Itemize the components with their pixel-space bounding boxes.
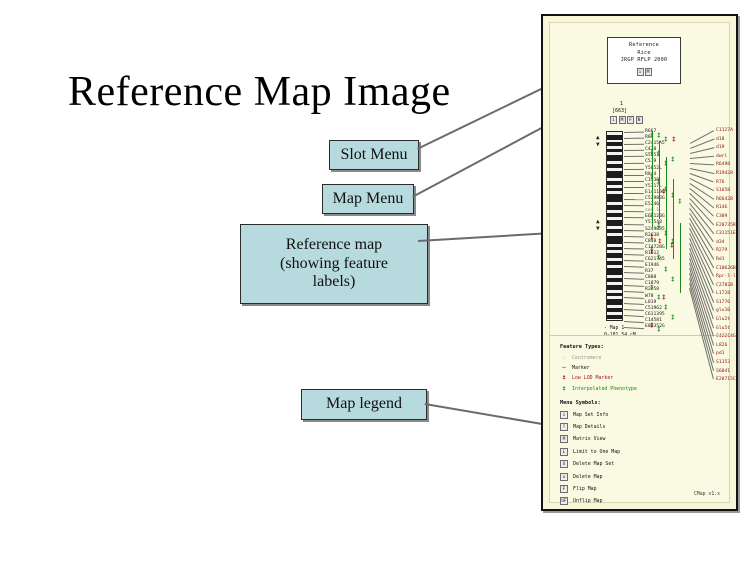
ideogram-band — [607, 149, 622, 152]
corresponding-feature-label[interactable]: glu10 — [716, 307, 738, 316]
corresponding-feature-label[interactable]: dwrl — [716, 153, 738, 162]
corresponding-feature-label[interactable]: Rd1 — [716, 256, 738, 265]
interpolated-phenotype-glyph[interactable]: ‡ — [664, 231, 668, 237]
slot-menu-matrix-icon[interactable]: M — [619, 116, 626, 124]
menu-symbol-row: ?Map Details — [560, 423, 729, 431]
ideogram-band — [607, 171, 622, 178]
interpolated-phenotype-glyph[interactable]: ‡ — [650, 213, 654, 219]
feature-leader-line — [624, 272, 644, 273]
interpolated-phenotype-glyph[interactable]: ‡ — [657, 295, 661, 301]
corresponding-feature-label[interactable]: C1127A — [716, 127, 738, 136]
interpolated-phenotype-glyph[interactable]: ‡ — [671, 315, 675, 321]
callout-reference-map-line3: labels) — [280, 273, 388, 291]
feature-leader-line — [624, 156, 644, 157]
interpolated-phenotype-glyph[interactable]: ‡ — [671, 157, 675, 163]
menu-symbol-icon[interactable]: X — [560, 460, 568, 468]
centromere-icon: ☐ — [560, 355, 568, 361]
feature-leader-line — [624, 217, 644, 218]
map-set-info-icon[interactable]: i — [637, 68, 644, 76]
feature-leader-line — [624, 132, 644, 133]
callout-map-legend-label: Map legend — [326, 395, 402, 413]
menu-symbol-icon[interactable]: x — [560, 473, 568, 481]
feature-leader-line — [624, 193, 644, 194]
cmap-version-label: CMap v1.x — [694, 492, 720, 497]
ideogram-band — [607, 261, 622, 265]
feature-leader-line — [624, 297, 644, 299]
legend-label-interpolated-phenotype: Interpolated Phenotype — [572, 386, 637, 392]
correspondence-glyph-column: ‡‡‡‡‡‡‡‡‡‡‡‡‡‡‡‡‡‡‡‡‡‡‡‡‡‡‡‡‡‡‡‡‡‡ — [650, 127, 692, 332]
corresponding-feature-label[interactable]: d19 — [716, 144, 738, 153]
feature-leader-line — [624, 309, 644, 311]
menu-symbol-label: Limit to One Map — [573, 449, 620, 455]
menu-symbol-label: Flip Map — [573, 486, 597, 492]
interpolated-phenotype-glyph[interactable]: ‡ — [657, 151, 661, 157]
map-set-menu[interactable]: i M — [608, 68, 680, 76]
map-menu-down-arrow-icon-2[interactable]: ▼ — [596, 226, 600, 232]
legend-item-centromere: ☐ Centromere — [560, 355, 729, 361]
menu-symbol-icon[interactable]: N — [560, 510, 568, 511]
reference-map-ideogram[interactable] — [606, 131, 623, 321]
corresponding-feature-label[interactable]: R76 — [716, 179, 738, 188]
low-lod-marker-glyph[interactable]: ‡ — [672, 137, 676, 143]
ideogram-band — [607, 236, 622, 244]
matrix-view-icon[interactable]: M — [645, 68, 652, 76]
feature-leader-line — [624, 236, 644, 237]
menu-symbol-label: Unflip Map — [573, 498, 602, 504]
callout-leader-line — [425, 403, 548, 426]
interpolated-phenotype-glyph[interactable]: ‡ — [657, 255, 661, 261]
legend-item-low-lod-marker: ‡ Low LOD Marker — [560, 375, 729, 381]
feature-leader-line — [624, 266, 644, 267]
callout-map-menu: Map Menu — [322, 184, 414, 214]
low-lod-marker-glyph[interactable]: ‡ — [662, 189, 666, 195]
legend-label-low-lod-marker: Low LOD Marker — [572, 375, 613, 381]
ideogram-band — [607, 315, 622, 319]
map-menu[interactable]: ▲ ▼ — [596, 135, 600, 148]
menu-symbols-heading: Menu Symbols: — [560, 400, 729, 406]
feature-leader-line — [624, 181, 644, 182]
menu-symbol-icon[interactable]: M — [560, 435, 568, 443]
interpolated-phenotype-glyph[interactable]: ‡ — [650, 133, 654, 139]
low-lod-marker-glyph[interactable]: ‡ — [670, 243, 674, 249]
ideogram-band — [607, 194, 622, 202]
interpolated-phenotype-glyph[interactable]: ‡ — [657, 327, 661, 333]
map-set-header-box[interactable]: Reference Rice JRGP RFLP 2000 i M — [607, 37, 681, 84]
interpolated-phenotype-glyph[interactable]: ‡ — [664, 161, 668, 167]
ideogram-band — [607, 164, 622, 168]
menu-symbol-row: LLimit to One Map — [560, 448, 729, 456]
ideogram-band — [607, 181, 622, 185]
menu-symbol-icon[interactable]: L — [560, 448, 568, 456]
ideogram-band — [607, 155, 622, 161]
feature-leader-line — [624, 285, 644, 287]
map-menu-down-arrow-icon[interactable]: ▼ — [596, 142, 600, 148]
ideogram-band — [607, 135, 622, 140]
callout-reference-map-line2: (showing feature — [280, 255, 388, 273]
menu-symbol-label: Map Set Info — [573, 412, 608, 418]
feature-leader-line — [624, 242, 644, 243]
slot-menu[interactable]: i M F N — [610, 116, 643, 124]
interpolated-phenotype-glyph[interactable]: ‡ — [664, 305, 668, 311]
corresponding-feature-label[interactable]: S1776 — [716, 299, 738, 308]
feature-leader-line — [624, 162, 644, 163]
feature-leader-line — [624, 315, 644, 317]
corresponding-feature-label[interactable]: C31151EB — [716, 230, 738, 239]
feature-leader-line — [624, 254, 644, 255]
ideogram-band — [607, 229, 622, 233]
ideogram-band — [607, 205, 622, 210]
feature-leader-line — [624, 248, 644, 249]
menu-symbol-row: UFUnflip Map — [560, 497, 729, 505]
menu-symbol-icon[interactable]: F — [560, 485, 568, 493]
low-lod-marker-glyph[interactable]: ‡ — [658, 239, 662, 245]
corresponding-feature-label[interactable]: R19428 — [716, 170, 738, 179]
slot-menu-flip-icon[interactable]: F — [627, 116, 634, 124]
marker-icon: ─ — [560, 365, 568, 371]
interpolated-phenotype-icon: ‡ — [560, 386, 568, 392]
corresponding-feature-label[interactable]: C10626B — [716, 265, 738, 274]
interpolated-phenotype-glyph[interactable]: ‡ — [657, 179, 661, 185]
ideogram-band — [607, 268, 622, 275]
corresponding-feature-label[interactable]: R6642B — [716, 196, 738, 205]
menu-symbol-label: Matrix View — [573, 436, 605, 442]
map-menu-secondary[interactable]: ▲ ▼ — [596, 219, 600, 232]
feature-leader-line — [624, 205, 644, 206]
correspondence-bar — [680, 223, 681, 293]
interpolated-phenotype-glyph[interactable]: ‡ — [650, 149, 654, 155]
map-set-title-line3: JRGP RFLP 2000 — [608, 57, 680, 65]
corresponding-feature-label[interactable]: Rpr-l-l — [716, 273, 738, 282]
callout-slot-menu-label: Slot Menu — [340, 146, 407, 164]
legend-item-marker: ─ Marker — [560, 365, 729, 371]
slot-number-label: 1 — [620, 101, 623, 107]
feature-leader-line — [624, 211, 644, 212]
feature-leader-line — [624, 303, 644, 305]
corresponding-feature-label[interactable]: d18 — [716, 136, 738, 145]
corresponding-feature-label[interactable]: L1728 — [716, 290, 738, 299]
legend-item-interpolated-phenotype: ‡ Interpolated Phenotype — [560, 386, 729, 392]
low-lod-marker-glyph[interactable]: ‡ — [662, 295, 666, 301]
map-name-label: - Map 1 — [604, 325, 636, 332]
interpolated-phenotype-glyph[interactable]: ‡ — [657, 223, 661, 229]
interpolated-phenotype-glyph[interactable]: ‡ — [671, 193, 675, 199]
slot-menu-new-view-icon[interactable]: N — [636, 116, 643, 124]
interpolated-phenotype-glyph[interactable]: ‡ — [671, 277, 675, 283]
corresponding-feature-label[interactable]: C2782B — [716, 282, 738, 291]
menu-symbol-row: xDelete Map — [560, 473, 729, 481]
menu-symbol-icon[interactable]: i — [560, 411, 568, 419]
ideogram-band — [607, 285, 622, 290]
interpolated-phenotype-glyph[interactable]: ‡ — [664, 267, 668, 273]
interpolated-phenotype-glyph[interactable]: ‡ — [650, 285, 654, 291]
map-set-title-line1: Reference — [608, 42, 680, 50]
ideogram-band — [607, 308, 622, 312]
corresponding-feature-label[interactable]: R279 — [716, 247, 738, 256]
ideogram-band — [607, 299, 622, 305]
feature-leader-line — [624, 230, 644, 231]
callout-reference-map-line1: Reference map — [280, 236, 388, 254]
ideogram-band — [607, 253, 622, 258]
feature-leader-line — [624, 150, 644, 151]
corresponding-feature-label[interactable]: R146 — [716, 204, 738, 213]
slot-menu-info-icon[interactable]: i — [610, 116, 617, 124]
ideogram-band — [607, 247, 622, 250]
corresponding-feature-label[interactable]: C309 — [716, 213, 738, 222]
callout-slot-menu: Slot Menu — [329, 140, 419, 170]
cmap-inner-frame: Reference Rice JRGP RFLP 2000 i M 1 [663… — [549, 22, 730, 503]
interpolated-phenotype-glyph[interactable]: ‡ — [678, 199, 682, 205]
map-set-title-line2: Rice — [608, 50, 680, 58]
menu-symbol-row: iMap Set Info — [560, 411, 729, 419]
menu-symbol-row: XDelete Map Set — [560, 460, 729, 468]
legend-label-centromere: Centromere — [572, 355, 601, 361]
menu-symbol-label: Delete Map Set — [573, 461, 614, 467]
feature-leader-line — [624, 260, 644, 261]
callout-leader-line — [418, 232, 552, 242]
low-lod-marker-glyph[interactable]: ‡ — [650, 235, 654, 241]
feature-leader-line — [624, 199, 644, 200]
callout-leader-line — [412, 125, 546, 197]
callout-map-legend: Map legend — [301, 389, 427, 420]
corresponding-feature-label[interactable]: S1658 — [716, 187, 738, 196]
menu-symbol-icon[interactable]: ? — [560, 423, 568, 431]
low-lod-marker-glyph[interactable]: ‡ — [650, 249, 654, 255]
corresponding-feature-label[interactable]: Glu5t — [716, 325, 738, 334]
feature-leader-line — [624, 224, 644, 225]
feature-leader-line — [624, 321, 644, 323]
corresponding-feature-label[interactable]: Glu2t — [716, 316, 738, 325]
legend-label-marker: Marker — [572, 365, 590, 371]
corresponding-feature-label[interactable]: E20735R — [716, 222, 738, 231]
feature-leader-line — [624, 175, 644, 176]
page-title: Reference Map Image — [68, 68, 451, 116]
menu-symbol-label: Delete Map — [573, 474, 602, 480]
callout-reference-map: Reference map (showing feature labels) — [240, 224, 428, 304]
cmap-application-panel: Reference Rice JRGP RFLP 2000 i M 1 [663… — [541, 14, 738, 511]
feature-leader-line — [624, 187, 644, 188]
menu-symbol-row: MMatrix View — [560, 435, 729, 443]
corresponding-feature-label[interactable]: d34 — [716, 239, 738, 248]
menu-symbol-icon[interactable]: UF — [560, 497, 568, 505]
low-lod-marker-glyph[interactable]: ‡ — [650, 323, 654, 329]
callout-map-menu-label: Map Menu — [333, 190, 404, 208]
ideogram-band — [607, 188, 622, 191]
menu-symbol-label: Map Details — [573, 424, 605, 430]
interpolated-phenotype-glyph[interactable]: ‡ — [664, 137, 668, 143]
ideogram-band — [607, 213, 622, 217]
ideogram-band — [607, 293, 622, 296]
map-legend-panel: Feature Types: ☐ Centromere ─ Marker ‡ L… — [550, 335, 729, 484]
slot-size-label: [663] — [612, 108, 627, 114]
ideogram-band — [607, 220, 622, 226]
feature-leader-line — [624, 291, 644, 293]
menu-symbol-row: NNew Map View — [560, 510, 729, 511]
feature-leader-line — [624, 168, 644, 169]
feature-leader-line — [624, 278, 644, 279]
low-lod-marker-icon: ‡ — [560, 375, 568, 381]
ideogram-band — [607, 278, 622, 282]
feature-leader-line — [624, 138, 644, 139]
feature-leader-line — [624, 144, 644, 145]
corresponding-feature-label[interactable]: R6498 — [716, 161, 738, 170]
interpolated-phenotype-glyph[interactable]: ‡ — [657, 133, 661, 139]
ideogram-band — [607, 142, 622, 146]
interpolated-phenotype-glyph[interactable]: ‡ — [650, 175, 654, 181]
